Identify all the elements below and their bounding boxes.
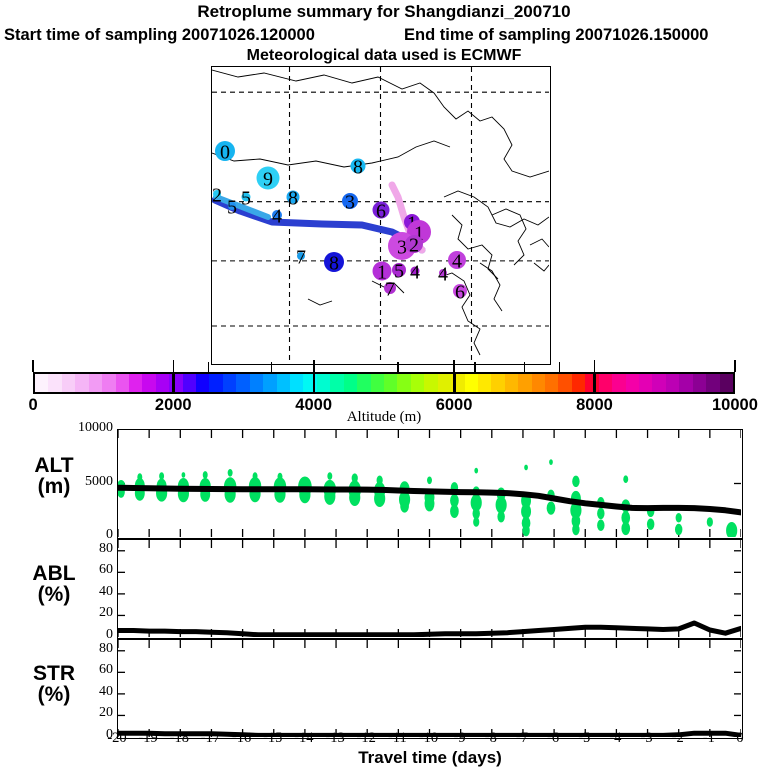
alt-scatter-blob — [400, 499, 409, 512]
colorbar-cell-34 — [491, 374, 504, 392]
colorbar-cell-9 — [156, 374, 169, 392]
alt-scatter-blob — [450, 505, 459, 518]
colorbar-cell-28 — [411, 374, 424, 392]
map-marker[interactable]: 5 — [227, 197, 237, 219]
end-time-label: End time of sampling 20071026.150000 — [404, 26, 709, 45]
colorbar-cell-2 — [62, 374, 75, 392]
colorbar-cell-5 — [102, 374, 115, 392]
marker-day-label: 8 — [329, 253, 339, 275]
y-tick-abl-panel-40: 40 — [55, 584, 113, 600]
marker-day-label: 7 — [296, 247, 306, 269]
map-marker[interactable]: 6 — [373, 201, 390, 223]
y-tick-abl-panel-80: 80 — [55, 541, 113, 557]
alt-scatter-blob — [203, 471, 208, 479]
map-marker[interactable]: 4 — [272, 206, 282, 228]
colorbar-cell-48 — [679, 374, 692, 392]
colorbar-minor-tick — [524, 362, 526, 372]
colorbar-divider-2000 — [172, 372, 175, 394]
colorbar-cell-15 — [236, 374, 249, 392]
colorbar-divider-8000 — [593, 372, 596, 394]
colorbar-cell-40 — [572, 374, 585, 392]
alt-scatter-blob — [572, 476, 579, 487]
colorbar-cell-41 — [585, 374, 598, 392]
colorbar-cell-37 — [532, 374, 545, 392]
colorbar-cell-13 — [209, 374, 222, 392]
marker-day-label: 3 — [345, 192, 355, 214]
map-marker[interactable]: 5 — [241, 188, 251, 210]
colorbar-cell-38 — [545, 374, 558, 392]
marker-day-label: 5 — [241, 188, 251, 210]
abl-plot-panel[interactable] — [117, 539, 743, 639]
marker-day-label: 4 — [438, 264, 448, 286]
marker-day-label: 4 — [272, 206, 282, 228]
colorbar-tickmark-8000 — [594, 360, 596, 372]
colorbar-minor-tick — [271, 362, 273, 372]
alt-scatter-blob — [597, 508, 604, 519]
map-marker[interactable]: 8 — [287, 188, 300, 210]
colorbar-cell-22 — [330, 374, 343, 392]
colorbar-cell-0 — [35, 374, 48, 392]
colorbar-cell-46 — [652, 374, 665, 392]
map-marker[interactable]: 7 — [296, 247, 306, 269]
map-marker[interactable]: 4 — [448, 251, 466, 273]
colorbar-cell-33 — [478, 374, 491, 392]
marker-day-label: 6 — [455, 282, 465, 304]
colorbar-cell-30 — [438, 374, 451, 392]
alt-scatter-blob — [676, 513, 682, 523]
colorbar-cell-8 — [142, 374, 155, 392]
colorbar-cell-1 — [48, 374, 61, 392]
alt-scatter-blob — [497, 511, 504, 522]
alt-scatter-blob — [549, 459, 553, 465]
map-marker[interactable]: 4 — [438, 264, 448, 286]
colorbar-cell-36 — [518, 374, 531, 392]
alt-scatter-blob — [623, 475, 628, 483]
altitude-colorbar[interactable] — [33, 372, 735, 394]
colorbar-tickmark-0 — [32, 360, 34, 372]
colorbar-cell-39 — [558, 374, 571, 392]
marker-day-label: 4 — [410, 262, 420, 284]
alt-scatter-blob — [647, 518, 654, 529]
str-plot-canvas — [118, 640, 741, 737]
page-title: Retroplume summary for Shangdianzi_20071… — [0, 2, 768, 22]
colorbar-cell-19 — [290, 374, 303, 392]
colorbar-cell-11 — [183, 374, 196, 392]
colorbar-tickmark-2000 — [173, 360, 175, 372]
marker-day-label: 0 — [220, 142, 230, 164]
colorbar-title: Altitude (m) — [0, 409, 768, 426]
marker-day-label: 9 — [263, 169, 273, 191]
y-tick-str-panel-60: 60 — [55, 662, 113, 678]
colorbar-cell-14 — [223, 374, 236, 392]
colorbar-cell-32 — [465, 374, 478, 392]
colorbar-cell-45 — [639, 374, 652, 392]
alt-scatter-blob — [572, 524, 579, 535]
colorbar-minor-tick — [397, 362, 399, 372]
colorbar-cell-49 — [693, 374, 706, 392]
x-tick-0: 0 — [717, 730, 763, 747]
colorbar-minor-tick — [208, 362, 210, 372]
map-marker[interactable]: 2 — [212, 185, 222, 207]
alt-scatter-blob — [597, 520, 604, 531]
marker-day-label: 2 — [409, 235, 419, 257]
alt-plot-panel[interactable] — [117, 429, 743, 539]
marker-day-label: 4 — [452, 251, 462, 273]
y-tick-str-panel-40: 40 — [55, 684, 113, 700]
map-marker[interactable]: 6 — [453, 282, 467, 304]
alt-scatter-blob — [621, 522, 630, 535]
map-marker[interactable]: 8 — [351, 157, 366, 179]
colorbar-cell-29 — [424, 374, 437, 392]
start-time-label: Start time of sampling 20071026.120000 — [4, 26, 315, 45]
y-tick-str-panel-20: 20 — [55, 705, 113, 721]
alt-scatter-blob — [182, 472, 186, 478]
retroplume-map[interactable]: 09885254378611321547446 — [211, 66, 551, 365]
alt-scatter-blob — [228, 469, 233, 477]
alt-scatter-blob — [427, 476, 432, 484]
map-canvas: 09885254378611321547446 — [212, 67, 549, 363]
colorbar-tickmark-10000 — [734, 360, 736, 372]
alt-scatter-blob — [726, 522, 737, 537]
abl-plot-canvas — [118, 540, 741, 637]
map-marker[interactable]: 9 — [257, 167, 280, 191]
alt-scatter-blob — [474, 468, 478, 474]
marker-day-label: 3 — [397, 237, 407, 259]
colorbar-cell-47 — [666, 374, 679, 392]
meteorological-data-label: Meteorological data used is ECMWF — [0, 47, 768, 65]
colorbar-cell-51 — [720, 374, 733, 392]
map-marker[interactable]: 3 — [342, 192, 358, 214]
alt-scatter-blob — [473, 517, 479, 527]
marker-day-label: 6 — [376, 201, 386, 223]
y-tick-abl-panel-20: 20 — [55, 605, 113, 621]
colorbar-cell-3 — [75, 374, 88, 392]
colorbar-cell-21 — [317, 374, 330, 392]
marker-day-label: 5 — [227, 197, 237, 219]
colorbar-divider-4000 — [313, 372, 316, 394]
map-marker[interactable]: 8 — [324, 252, 344, 275]
marker-day-label: 5 — [394, 261, 404, 283]
alt-scatter-blob — [425, 496, 435, 511]
alt-scatter-blob — [524, 465, 528, 471]
y-tick-abl-panel-60: 60 — [55, 562, 113, 578]
colorbar-cell-27 — [397, 374, 410, 392]
colorbar-tickmark-4000 — [313, 360, 315, 372]
map-marker[interactable]: 7 — [384, 279, 396, 301]
alt-plot-canvas — [118, 430, 741, 537]
alt-scatter-blob — [547, 501, 556, 514]
colorbar-cell-25 — [371, 374, 384, 392]
colorbar-minor-tick — [474, 362, 476, 372]
colorbar-cell-24 — [357, 374, 370, 392]
alt-scatter-blob — [675, 524, 682, 535]
marker-day-label: 8 — [353, 157, 363, 179]
alt-scatter-blob — [707, 517, 713, 527]
x-axis-title: Travel time (days) — [117, 748, 743, 768]
colorbar-tickmark-6000 — [453, 360, 455, 372]
marker-day-label: 2 — [212, 185, 222, 207]
colorbar-cell-6 — [116, 374, 129, 392]
str-plot-panel[interactable] — [117, 639, 743, 739]
alt-scatter-blob — [327, 472, 332, 480]
colorbar-cell-26 — [384, 374, 397, 392]
colorbar-cell-35 — [505, 374, 518, 392]
alt-scatter-blob — [496, 496, 507, 513]
colorbar-divider-6000 — [453, 372, 456, 394]
marker-day-label: 8 — [288, 188, 298, 210]
colorbar-cell-4 — [89, 374, 102, 392]
y-tick-alt-panel-5000: 5000 — [55, 474, 113, 490]
y-tick-str-panel-80: 80 — [55, 641, 113, 657]
colorbar-cell-23 — [344, 374, 357, 392]
colorbar-cell-12 — [196, 374, 209, 392]
colorbar-cell-44 — [626, 374, 639, 392]
colorbar-minor-tick — [559, 362, 561, 372]
map-marker[interactable]: 4 — [410, 262, 420, 284]
colorbar-cell-50 — [706, 374, 719, 392]
marker-day-label: 7 — [385, 279, 395, 301]
colorbar-cell-17 — [263, 374, 276, 392]
colorbar-cell-16 — [250, 374, 263, 392]
colorbar-cell-18 — [277, 374, 290, 392]
y-tick-alt-panel-10000: 10000 — [55, 420, 113, 436]
colorbar-cell-42 — [599, 374, 612, 392]
alt-scatter-blob — [522, 525, 529, 536]
colorbar-cell-7 — [129, 374, 142, 392]
colorbar-cell-43 — [612, 374, 625, 392]
